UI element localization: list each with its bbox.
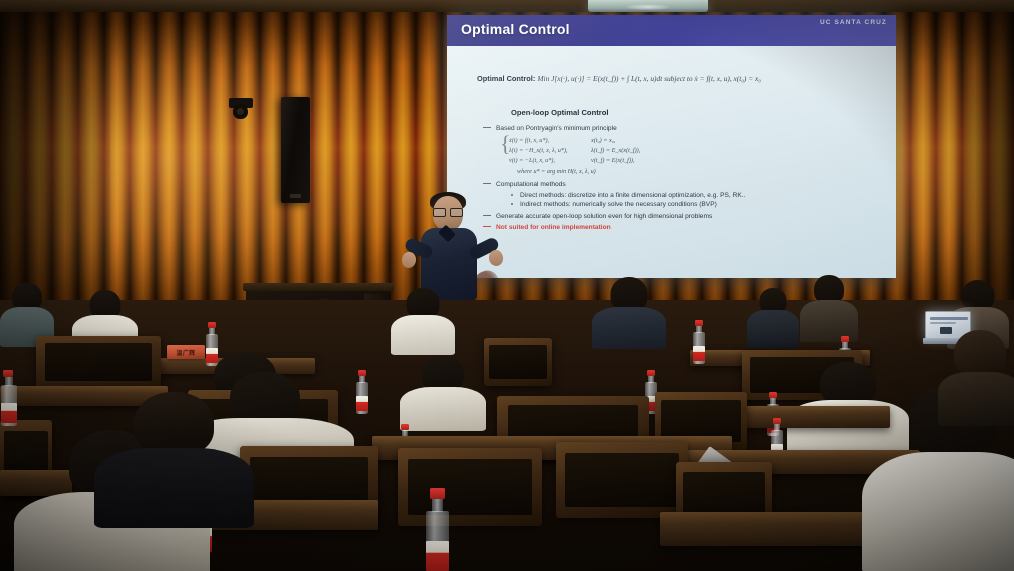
water-bottle[interactable] [0, 370, 17, 426]
attendee-back-center [391, 288, 455, 352]
attendee-back-right-3 [800, 275, 858, 341]
presenter-right-hand [487, 249, 504, 268]
wall-speaker-icon [281, 97, 310, 203]
equation-row: λ̇(t) = −H_x(t, x, λ, u*), λ(t_f) = E_x(… [509, 146, 888, 156]
main-equation-line: Optimal Control: Min J[x(·), u(·)] = E(x… [477, 74, 886, 84]
sub-bullet-label: Direct methods: discretize into a finite… [520, 192, 745, 199]
bottle-cap [430, 488, 445, 499]
equation-state: ẋ(t) = f(t, x, u*), [509, 136, 591, 146]
projection-screen: Optimal Control UC SANTA CRUZ Optimal Co… [447, 15, 896, 278]
equation-where-clause: where u* = arg min H(t, x, λ, u) [517, 167, 888, 177]
glasses-icon [433, 208, 463, 215]
attendee-body [862, 452, 1014, 571]
brace-icon: { [500, 135, 511, 154]
slide-subheading: Open-loop Optimal Control [511, 108, 608, 117]
bottle-label [693, 346, 705, 361]
water-bottle[interactable] [692, 320, 705, 364]
bullet-item-accurate-solution: Generate accurate open-loop solution eve… [483, 212, 888, 222]
bottle-label [1, 403, 17, 423]
ceiling-light-icon [588, 0, 708, 12]
bullet-dot-icon [511, 194, 513, 196]
bullet-item-not-suited-online: Not suited for online implementation [483, 223, 888, 233]
attendee-body [592, 307, 666, 349]
dash-icon [483, 127, 491, 128]
attendee-body [400, 387, 486, 431]
bullet-item-pontryagin: Based on Pontryagin's minimum principle [483, 124, 888, 134]
equation-costate-bc: λ(t_f) = E_x(x(t_f)), [591, 146, 640, 156]
laptop-toolbar-2 [930, 322, 956, 324]
sub-bullet-direct-methods: Direct methods: discretize into a finite… [509, 191, 888, 201]
equation-state-bc: x(t₀) = x₀, [591, 136, 615, 146]
attendee-head [954, 330, 1006, 378]
main-equation: Min J[x(·), u(·)] = E(x(t_f)) + ∫ L(t, x… [537, 74, 761, 83]
chair[interactable] [36, 336, 161, 388]
bullet-label: Computational methods [496, 181, 566, 188]
attendee-body [391, 315, 455, 355]
bottle-label [356, 396, 368, 411]
wall-shadow-left [0, 12, 110, 312]
slide-bullet-list: Based on Pontryagin's minimum principle … [483, 124, 888, 234]
chair[interactable] [484, 338, 552, 386]
equation-costate: λ̇(t) = −H_x(t, x, λ, u*), [509, 146, 591, 156]
attendee-mid-center [400, 356, 486, 422]
chair[interactable] [398, 448, 542, 526]
attendee-body [94, 448, 254, 528]
attendee-back-right-2 [747, 288, 799, 346]
bottle-label [426, 541, 449, 571]
chair[interactable] [556, 442, 688, 518]
slide-header: Optimal Control UC SANTA CRUZ [447, 15, 896, 46]
sub-bullet-label: Indirect methods: numerically solve the … [520, 201, 717, 208]
equation-row: ẋ(t) = f(t, x, u*), x(t₀) = x₀, [509, 136, 888, 146]
wall-shadow-right [954, 12, 1014, 312]
podium-top-surface [243, 283, 394, 291]
university-brand-logo: UC SANTA CRUZ [820, 19, 887, 26]
slide-title: Optimal Control [461, 21, 570, 37]
equation-cost: v̇(t) = −L(t, x, u*), [509, 156, 591, 166]
attendee-front-far-right [938, 330, 1014, 420]
lecture-hall-photo: Optimal Control UC SANTA CRUZ Optimal Co… [0, 0, 1014, 571]
attendee-body [747, 310, 799, 348]
water-bottle[interactable] [425, 488, 449, 571]
bottle-cap [3, 370, 13, 377]
bullet-item-computational-methods: Computational methods [483, 180, 888, 190]
main-equation-label: Optimal Control: [477, 74, 535, 83]
slide-body: Optimal Control: Min J[x(·), u(·)] = E(x… [447, 46, 896, 278]
sub-bullet-list: Direct methods: discretize into a finite… [509, 191, 888, 210]
equation-row: v̇(t) = −L(t, x, u*), v(t_f) = E(x(t_f))… [509, 156, 888, 166]
wall-camera-icon [229, 95, 253, 122]
dash-icon [483, 183, 491, 184]
bullet-label: Based on Pontryagin's minimum principle [496, 125, 617, 132]
laptop-toolbar [930, 317, 968, 320]
equation-system-block: { ẋ(t) = f(t, x, u*), x(t₀) = x₀, λ̇(t) … [509, 136, 888, 177]
sub-bullet-indirect-methods: Indirect methods: numerically solve the … [509, 200, 888, 210]
bullet-label: Not suited for online implementation [496, 224, 611, 231]
attendee-back-right-1 [592, 277, 666, 345]
bullet-label: Generate accurate open-loop solution eve… [496, 213, 712, 220]
water-bottle[interactable] [355, 370, 368, 414]
attendee-front-center [94, 392, 254, 522]
bullet-dot-icon [511, 203, 513, 205]
equation-cost-bc: v(t_f) = E(x(t_f)), [591, 156, 635, 166]
attendee-head [134, 392, 214, 456]
attendee-body [938, 372, 1014, 426]
